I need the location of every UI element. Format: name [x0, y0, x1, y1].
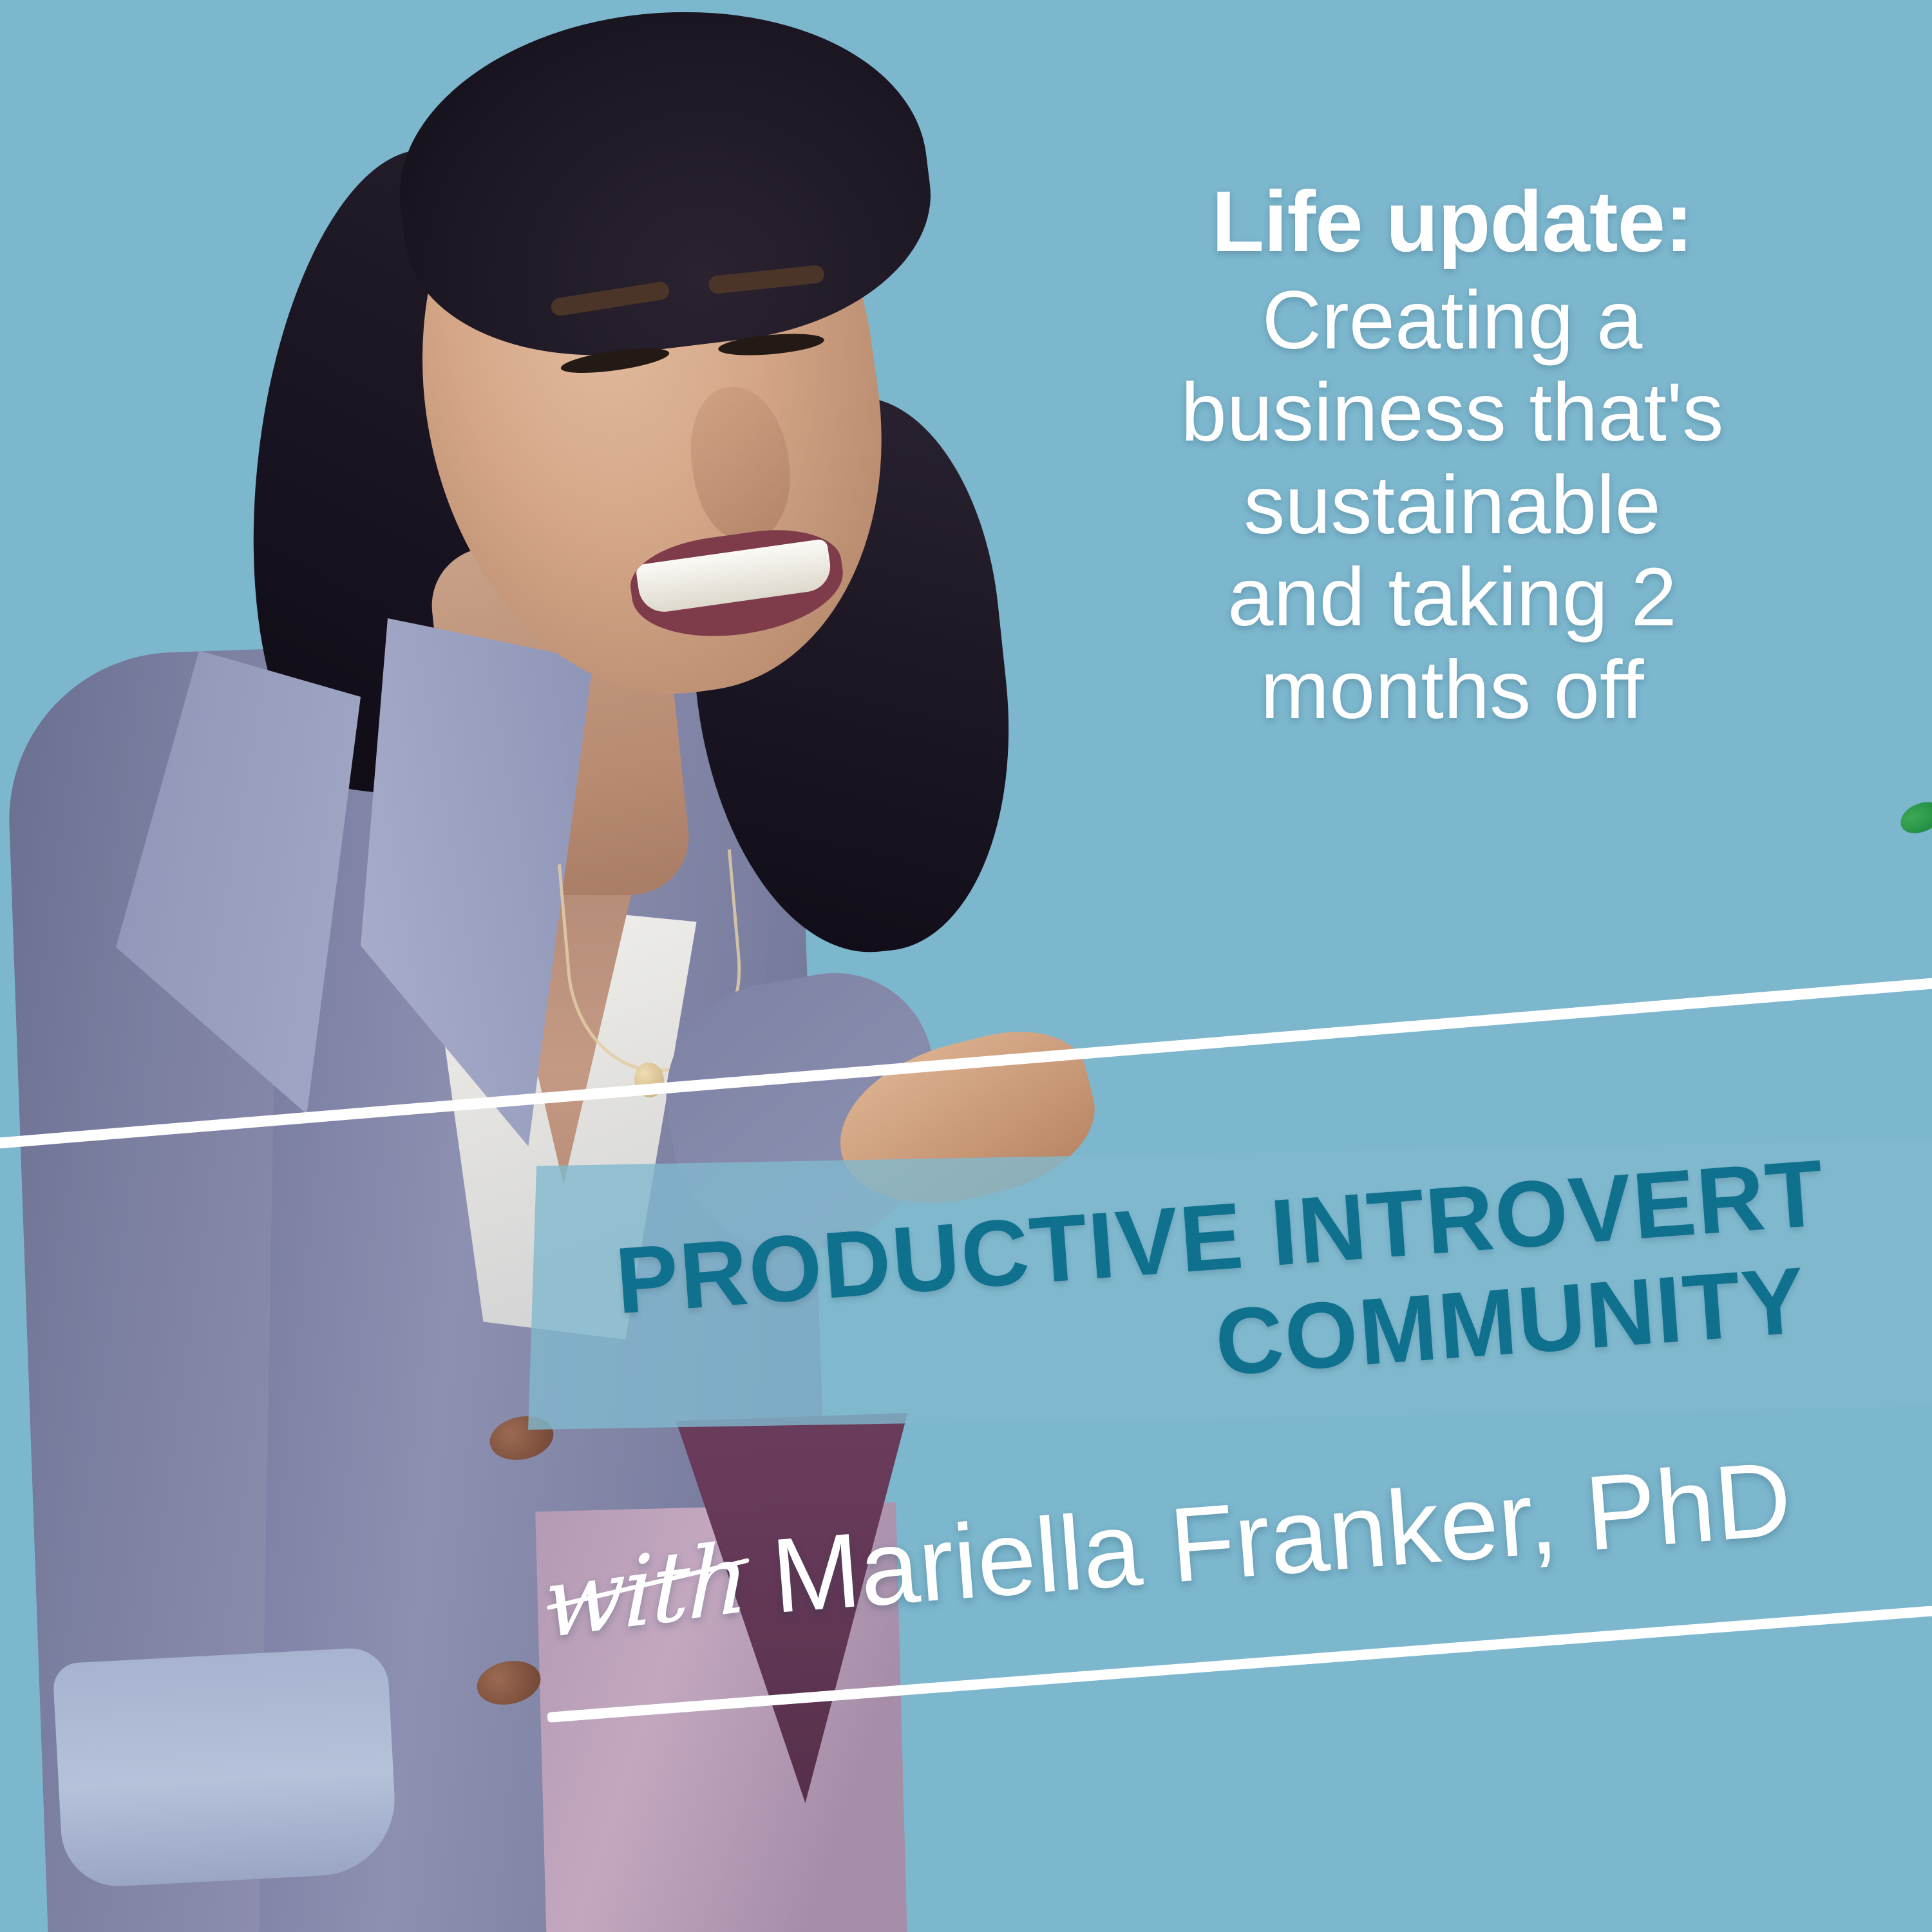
episode-title-body: Creating a business that's sustainable a…: [1024, 274, 1880, 736]
episode-title-line-4: and taking 2: [1024, 551, 1880, 643]
leaf-icon: [1897, 799, 1932, 837]
episode-title: Life update: Creating a business that's …: [1024, 174, 1880, 736]
episode-title-line-2: business that's: [1024, 366, 1880, 459]
jacket-cuff: [52, 1647, 399, 1889]
episode-title-line-1: Creating a: [1024, 274, 1880, 366]
podcast-cover-art: Life update: Creating a business that's …: [0, 0, 1932, 1932]
host-credit-with: with: [544, 1520, 756, 1661]
teeth: [635, 538, 833, 615]
episode-title-lead: Life update:: [1024, 174, 1880, 270]
episode-title-line-3: sustainable: [1024, 459, 1880, 551]
episode-title-line-5: months off: [1024, 644, 1880, 736]
